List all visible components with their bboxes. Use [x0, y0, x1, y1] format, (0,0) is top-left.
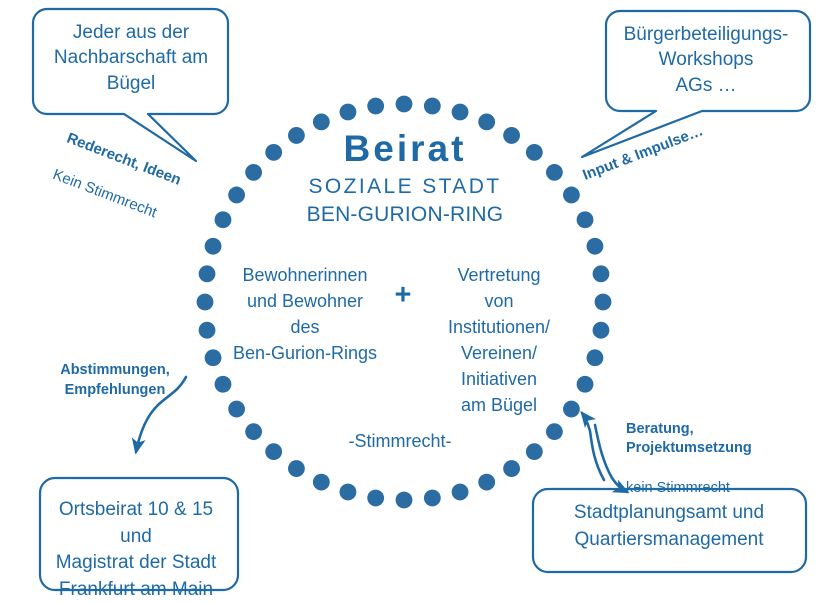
- ring-dot: [245, 423, 262, 440]
- arrow-beratung-down: [595, 425, 627, 492]
- ring-dot: [367, 490, 384, 507]
- ring-dot: [593, 322, 610, 339]
- ring-dot: [587, 238, 604, 255]
- ring-dot: [340, 104, 357, 121]
- caption-beratung-kein-stimmrecht: kein Stimmrecht: [626, 479, 806, 499]
- voting-rights-note: -Stimmrecht-: [310, 430, 490, 453]
- ring-dot: [197, 294, 214, 311]
- ring-dot: [526, 443, 543, 460]
- diagram-canvas: Jeder aus der Nachbarschaft am Bügel Bür…: [0, 0, 820, 600]
- members-institutions-column: Vertretung von Institutionen/ Vereinen/ …: [412, 262, 586, 419]
- ring-dot: [595, 294, 612, 311]
- ring-dot: [452, 484, 469, 501]
- subtitle-soziale-stadt: SOZIALE STADT: [240, 174, 570, 200]
- ring-dot: [367, 98, 384, 115]
- ring-dot: [587, 349, 604, 366]
- box-bottom-left-text: Ortsbeirat 10 & 15 und Magistrat der Sta…: [40, 497, 232, 603]
- ring-dot: [593, 265, 610, 282]
- ring-dot: [215, 211, 232, 228]
- bubble-top-right-text: Bürgerbeteiligungs- Workshops AGs …: [606, 22, 806, 98]
- caption-beratung-bold: Beratung, Projektumsetzung: [626, 420, 806, 459]
- ring-dot: [313, 474, 330, 491]
- members-residents-column: Bewohnerinnen und Bewohner des Ben-Gurio…: [215, 262, 395, 366]
- ring-dot: [478, 474, 495, 491]
- caption-abstimmungen-empfehlungen: Abstimmungen, Empfehlungen: [40, 360, 190, 401]
- ring-dot: [215, 376, 232, 393]
- ring-dot: [228, 401, 245, 418]
- ring-dot: [340, 484, 357, 501]
- bubble-top-left-text: Jeder aus der Nachbarschaft am Bügel: [36, 20, 226, 96]
- ring-dot: [503, 460, 520, 477]
- ring-dot: [396, 492, 413, 509]
- ring-dot: [199, 322, 216, 339]
- ring-dot: [199, 265, 216, 282]
- subtitle-ben-gurion-ring: BEN-GURION-RING: [240, 202, 570, 228]
- ring-dot: [288, 460, 305, 477]
- ring-dot: [424, 98, 441, 115]
- ring-dot: [452, 104, 469, 121]
- ring-dot: [577, 211, 594, 228]
- ring-dot: [205, 238, 222, 255]
- ring-dot: [265, 443, 282, 460]
- ring-dot: [546, 423, 563, 440]
- caption-beratung-projektumsetzung: Beratung, Projektumsetzung kein Stimmrec…: [626, 400, 806, 518]
- ring-dot: [424, 490, 441, 507]
- page-title: Beirat: [240, 126, 570, 172]
- ring-dot: [396, 96, 413, 113]
